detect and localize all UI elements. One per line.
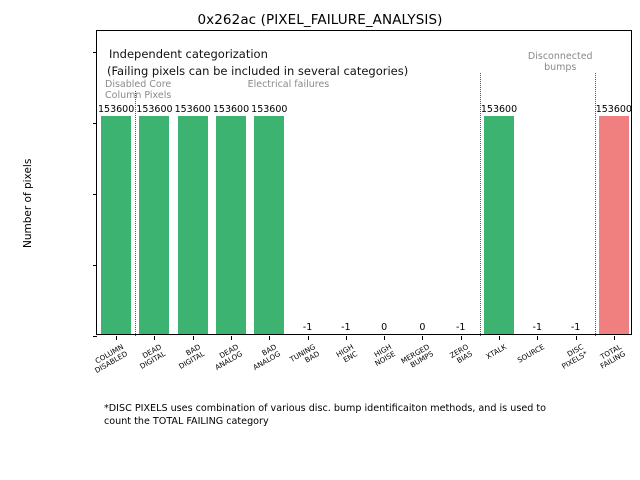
x-tick-label: BADDIGITAL: [173, 343, 206, 371]
x-tick-label: XTALK: [485, 343, 508, 361]
y-tick-mark: [93, 123, 97, 124]
x-tick-mark: [384, 336, 385, 340]
bar-value-label: 153600: [98, 104, 134, 115]
x-tick-mark: [308, 336, 309, 340]
y-tick-mark: [93, 52, 97, 53]
bar-value-label: -1: [303, 322, 312, 333]
x-tick-label: DEADANALOG: [210, 343, 244, 372]
bar-value-label: -1: [456, 322, 465, 333]
y-tick-mark: [93, 336, 97, 337]
bar-value-label: 0: [381, 322, 387, 333]
x-tick-label: HIGHENC: [335, 343, 359, 366]
x-tick-mark: [154, 336, 155, 340]
x-tick-mark: [116, 336, 117, 340]
bar-value-label: 153600: [213, 104, 249, 115]
x-tick-mark: [422, 336, 423, 340]
x-tick-label: TUNINGBAD: [288, 343, 321, 371]
x-tick-mark: [461, 336, 462, 340]
group-separator: [595, 73, 596, 336]
x-tick-label: DEADDIGITAL: [135, 343, 168, 371]
x-tick-label: BADANALOG: [248, 343, 282, 372]
x-tick-mark: [614, 336, 615, 340]
x-tick-mark: [231, 336, 232, 340]
page-title: 0x262ac (PIXEL_FAILURE_ANALYSIS): [0, 12, 640, 28]
bar-value-label: 153600: [251, 104, 287, 115]
x-tick-mark: [499, 336, 500, 340]
x-tick-mark: [269, 336, 270, 340]
x-tick-label: TOTALFAILING: [595, 343, 627, 371]
bar-value-label: -1: [341, 322, 350, 333]
bar-2[interactable]: [139, 116, 169, 334]
bar-11[interactable]: [484, 116, 514, 334]
bar-4[interactable]: [216, 116, 246, 334]
group-separator: [135, 91, 136, 336]
figure-canvas: 0x262ac (PIXEL_FAILURE_ANALYSIS) Number …: [0, 0, 640, 480]
y-tick-mark: [93, 194, 97, 195]
x-tick-mark: [193, 336, 194, 340]
group-annotation: Electrical failures: [248, 79, 330, 90]
y-tick-mark: [93, 265, 97, 266]
x-tick-label: MERGEDBUMPS: [400, 343, 435, 373]
x-tick-label: SOURCE: [517, 343, 547, 365]
bar-value-label: -1: [571, 322, 580, 333]
x-tick-label: COLUMNDISABLED: [90, 343, 130, 375]
x-tick-mark: [346, 336, 347, 340]
x-tick-label: DISCPIXELS*: [556, 343, 589, 371]
bar-value-label: 153600: [481, 104, 517, 115]
x-tick-mark: [537, 336, 538, 340]
group-annotation: Disabled CoreColumn Pixels: [105, 79, 171, 101]
bar-14[interactable]: [599, 116, 629, 334]
bar-value-label: 0: [419, 322, 425, 333]
group-annotation: Disconnectedbumps: [528, 51, 593, 73]
x-tick-mark: [576, 336, 577, 340]
bar-value-label: 153600: [175, 104, 211, 115]
bar-value-label: 153600: [136, 104, 172, 115]
x-tick-label: HIGHNOISE: [370, 343, 397, 368]
footnote: *DISC PIXELS uses combination of various…: [104, 402, 572, 428]
group-separator: [480, 73, 481, 336]
x-tick-label: ZEROBIAS: [448, 343, 474, 367]
y-axis-label: Number of pixels: [22, 159, 34, 248]
bars-layer: 153600153600153600153600153600-1-100-115…: [97, 31, 631, 334]
plot-area: Independent categorization (Failing pixe…: [96, 30, 632, 335]
bar-5[interactable]: [254, 116, 284, 334]
bar-value-label: 153600: [596, 104, 632, 115]
bar-value-label: -1: [533, 322, 542, 333]
bar-3[interactable]: [178, 116, 208, 334]
bar-1[interactable]: [101, 116, 131, 334]
